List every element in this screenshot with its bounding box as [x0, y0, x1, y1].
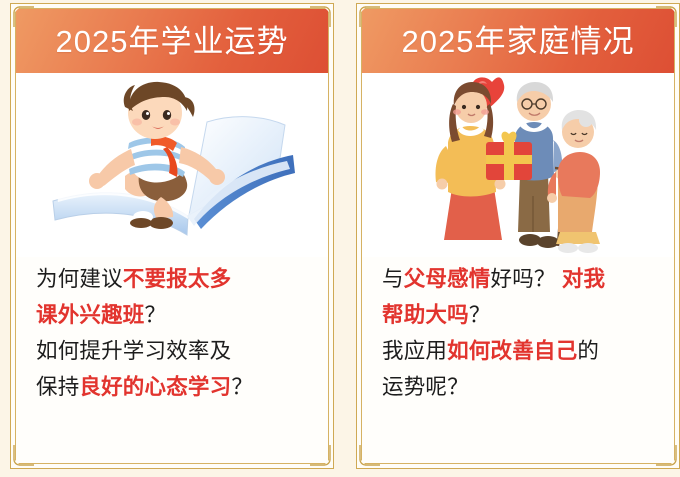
card-title: 2025年学业运势 [56, 26, 289, 57]
family-with-gift-icon [408, 76, 628, 254]
highlighted-phrase: 不要报太多 [123, 267, 232, 291]
family-question-text: 与父母感情好吗？ 对我 帮助大吗？ 我应用如何改善自己的 运势呢？ [382, 261, 660, 405]
fortune-card-academic[interactable]: 2025年学业运势 [10, 3, 334, 469]
question-line: 运势呢？ [382, 369, 660, 405]
highlighted-phrase: 帮助大吗 [382, 303, 469, 327]
poster-stage: 2025年学业运势 [0, 0, 680, 477]
question-line: 如何提升学习效率及 [36, 333, 314, 369]
academic-illustration [16, 73, 328, 257]
plain-phrase: ？ [469, 303, 491, 327]
question-line: 帮助大吗？ [382, 297, 660, 333]
card-title: 2025年家庭情况 [402, 26, 635, 57]
fortune-card-family[interactable]: 2025年家庭情况 [356, 3, 680, 469]
family-illustration [362, 73, 674, 257]
card-title-banner: 2025年家庭情况 [362, 9, 674, 73]
plain-phrase: 与 [382, 267, 404, 291]
question-line: 课外兴趣班？ [36, 297, 314, 333]
highlighted-phrase: 父母感情 [404, 267, 491, 291]
plain-phrase: ？ [145, 303, 167, 327]
plain-phrase: 运势呢？ [382, 375, 469, 399]
question-line: 为何建议不要报太多 [36, 261, 314, 297]
highlighted-phrase: 对我 [562, 267, 605, 291]
plain-phrase: 好吗？ [491, 267, 556, 291]
child-on-book-icon [47, 77, 297, 253]
plain-phrase: ？ [231, 375, 253, 399]
question-line: 保持良好的心态学习？ [36, 369, 314, 405]
plain-phrase: 如何提升学习效率及 [36, 339, 231, 363]
highlighted-phrase: 课外兴趣班 [36, 303, 145, 327]
highlighted-phrase: 如何改善自己 [447, 339, 577, 363]
question-line: 与父母感情好吗？ 对我 [382, 261, 660, 297]
plain-phrase: 的 [577, 339, 599, 363]
plain-phrase: 保持 [36, 375, 79, 399]
academic-question-text: 为何建议不要报太多 课外兴趣班？ 如何提升学习效率及 保持良好的心态学习？ [36, 261, 314, 405]
highlighted-phrase: 良好的心态学习 [79, 375, 231, 399]
card-inner-frame: 2025年学业运势 [15, 8, 329, 464]
card-inner-frame: 2025年家庭情况 [361, 8, 675, 464]
plain-phrase: 为何建议 [36, 267, 123, 291]
plain-phrase: 我应用 [382, 339, 447, 363]
question-line: 我应用如何改善自己的 [382, 333, 660, 369]
card-title-banner: 2025年学业运势 [16, 9, 328, 73]
